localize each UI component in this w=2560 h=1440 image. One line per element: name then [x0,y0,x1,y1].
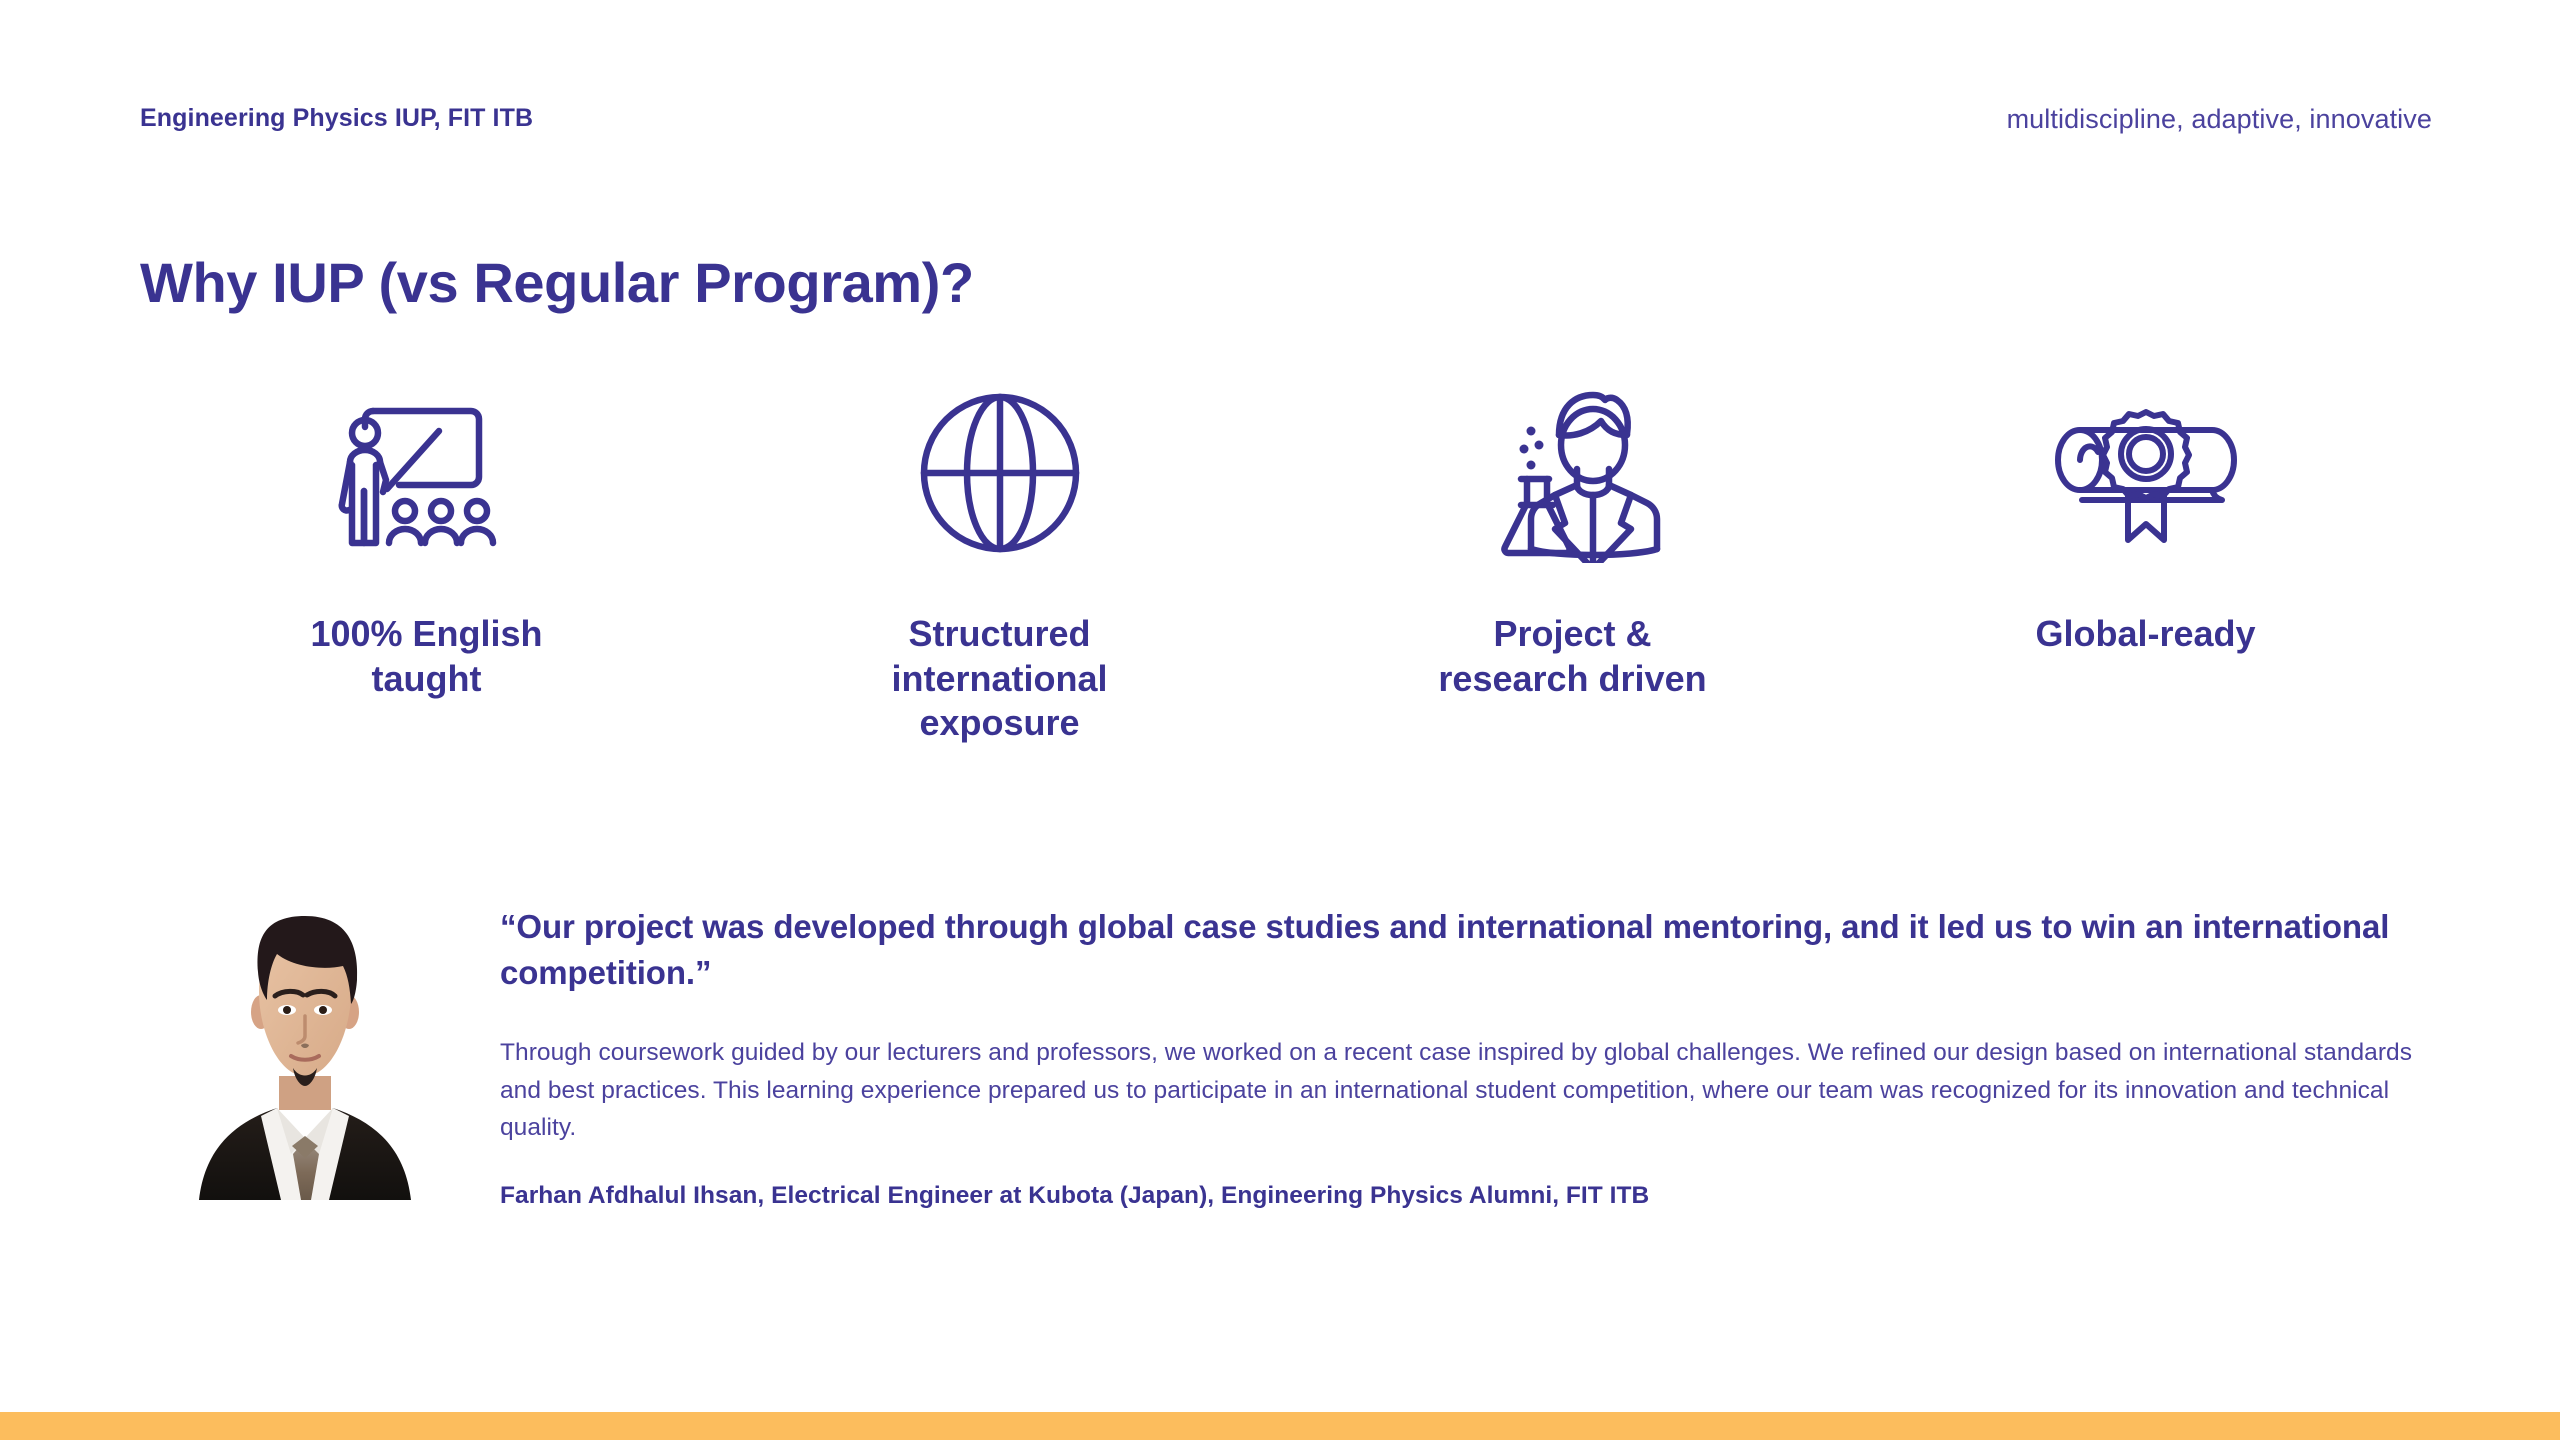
avatar [175,900,435,1200]
feature-label: Global-ready [2035,612,2255,657]
header-tagline: multidiscipline, adaptive, innovative [2007,104,2432,135]
feature-item-project-research: Project & research driven [1286,368,1859,701]
feature-item-global-ready: Global-ready [1859,368,2432,657]
researcher-flask-icon [1473,368,1673,578]
feature-label: Structured international exposure [850,612,1150,746]
classroom-teacher-icon [327,368,527,578]
header-program-label: Engineering Physics IUP, FIT ITB [140,104,533,133]
page-title: Why IUP (vs Regular Program)? [140,253,974,313]
testimonial-block: “Our project was developed through globa… [175,900,2432,1210]
slide-header: Engineering Physics IUP, FIT ITB multidi… [140,104,2432,148]
feature-item-international-exposure: Structured international exposure [713,368,1286,746]
slide-canvas: Engineering Physics IUP, FIT ITB multidi… [0,0,2560,1440]
testimonial-quote: “Our project was developed through globa… [500,904,2432,996]
feature-label: Project & research driven [1423,612,1723,701]
diploma-award-icon [2046,368,2246,578]
feature-row: 100% English taught Structured internati… [140,368,2432,746]
feature-label: 100% English taught [277,612,577,701]
feature-item-english-taught: 100% English taught [140,368,713,701]
testimonial-attribution: Farhan Afdhalul Ihsan, Electrical Engine… [500,1182,2432,1210]
globe-icon [915,368,1085,578]
testimonial-paragraph: Through coursework guided by our lecture… [500,1034,2432,1146]
bottom-accent-bar [0,1412,2560,1440]
testimonial-text: “Our project was developed through globa… [500,900,2432,1210]
